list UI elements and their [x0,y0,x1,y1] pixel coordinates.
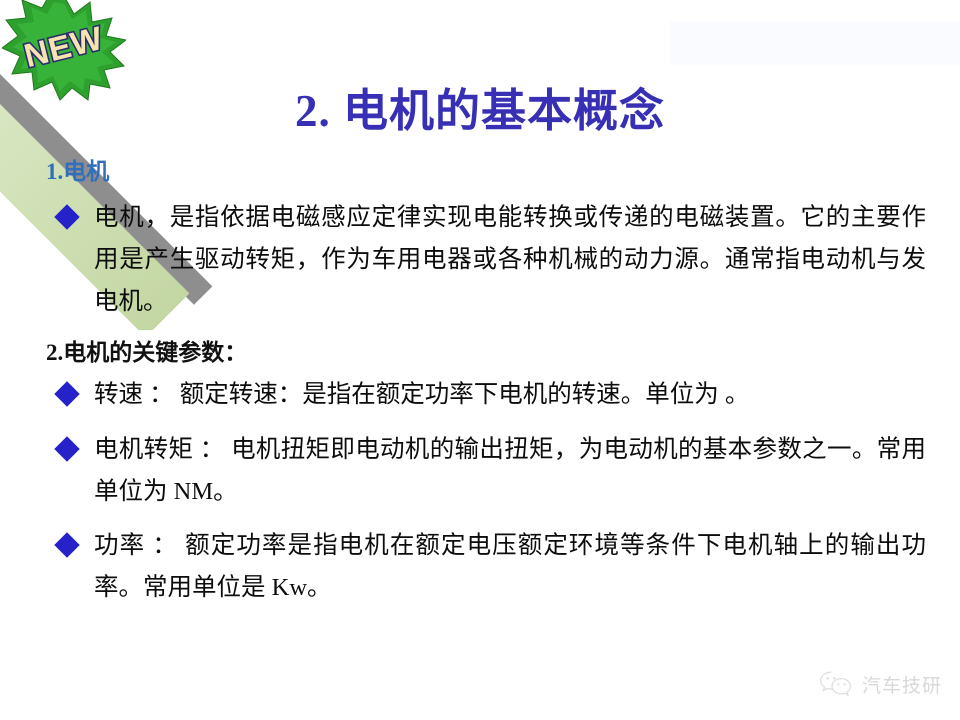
slide-title: 2. 电机的基本概念 [0,88,960,135]
diamond-bullet-icon [54,436,79,461]
diamond-bullet-icon [54,204,79,229]
bullet-text: 转速 ： 额定转速：是指在额定功率下电机的转速。单位为 。 [94,374,926,416]
section-1-heading: 1.电机 [46,160,926,183]
slide-body: 1.电机 电机，是指依据电磁感应定律实现电能转换或传递的电磁装置。它的主要作用是… [46,160,926,621]
section-1: 1.电机 电机，是指依据电磁感应定律实现电能转换或传递的电磁装置。它的主要作用是… [46,160,926,323]
diamond-bullet-icon [54,532,79,557]
bullet-item: 电机转矩 ： 电机扭矩即电动机的输出扭矩，为电动机的基本参数之一。常用单位为 N… [46,429,926,513]
watermark-label: 汽车技研 [862,671,942,698]
bullet-item: 电机，是指依据电磁感应定律实现电能转换或传递的电磁装置。它的主要作用是产生驱动转… [46,197,926,323]
wechat-icon [819,670,853,698]
diamond-bullet-icon [54,382,79,407]
top-right-placeholder-box [670,21,960,65]
new-badge: NEW [2,0,126,102]
section-2-heading: 2.电机的关键参数： [46,341,926,364]
bullet-text: 电机，是指依据电磁感应定律实现电能转换或传递的电磁装置。它的主要作用是产生驱动转… [94,197,926,323]
slide-canvas: NEW 2. 电机的基本概念 1.电机 电机，是指依据电磁感应定律实现电能转换或… [0,0,960,720]
section-2: 2.电机的关键参数： 转速 ： 额定转速：是指在额定功率下电机的转速。单位为 。… [46,341,926,609]
bullet-text: 电机转矩 ： 电机扭矩即电动机的输出扭矩，为电动机的基本参数之一。常用单位为 N… [94,429,926,513]
bullet-item: 功率 ： 额定功率是指电机在额定电压额定环境等条件下电机轴上的输出功率。常用单位… [46,525,926,609]
bullet-item: 转速 ： 额定转速：是指在额定功率下电机的转速。单位为 。 [46,374,926,416]
bullet-text: 功率 ： 额定功率是指电机在额定电压额定环境等条件下电机轴上的输出功率。常用单位… [94,525,926,609]
watermark: 汽车技研 [819,670,942,698]
